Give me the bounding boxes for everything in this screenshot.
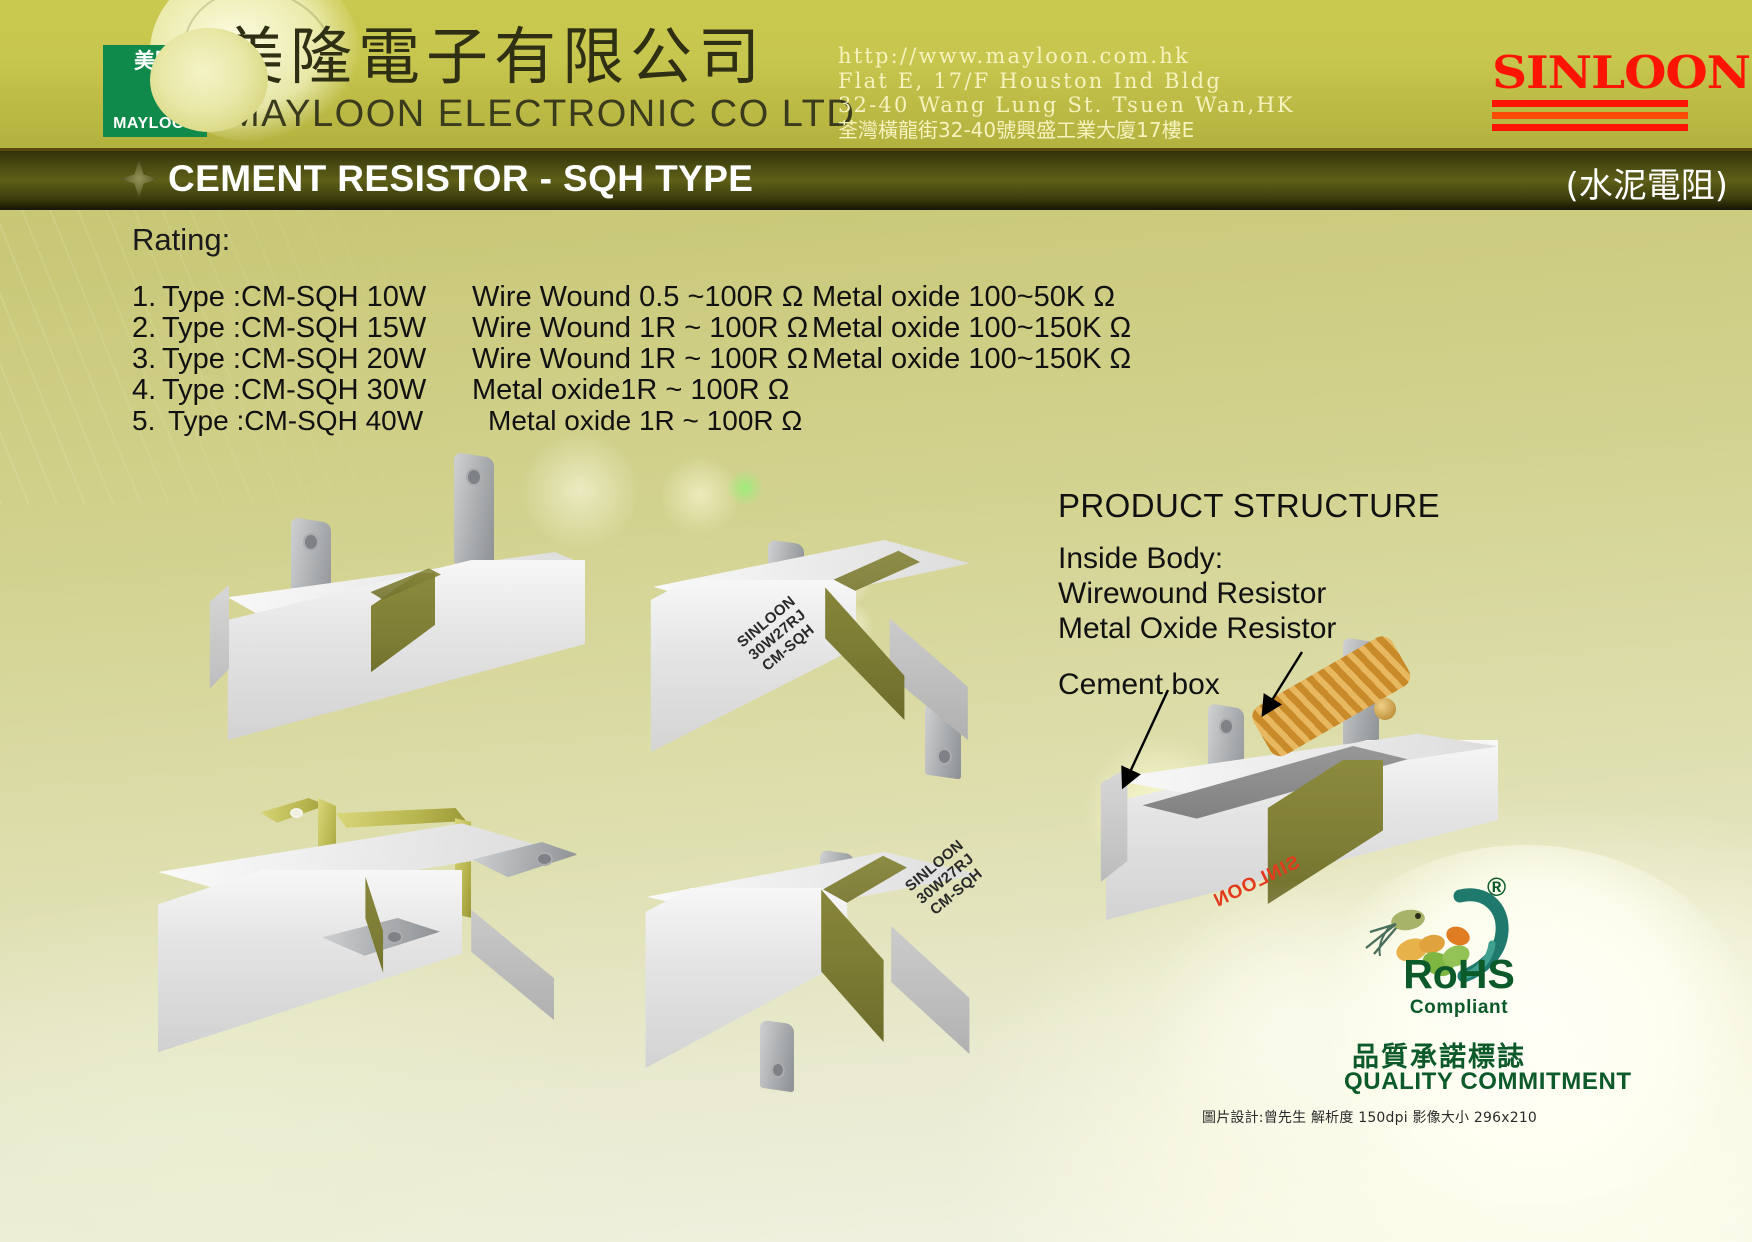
product-photo-bottom-middle: SINLOON 30W27RJ CM-SQH bbox=[640, 830, 1060, 1130]
mayloon-c-mark-icon bbox=[150, 28, 268, 132]
page-header: 美隆 MAYLOON 美隆電子有限公司 MAYLOON ELECTRONIC C… bbox=[0, 0, 1752, 148]
sinloon-brand-logo: SINLOON bbox=[1492, 50, 1692, 130]
resistor-lead-gold bbox=[260, 798, 326, 838]
page-title: CEMENT RESISTOR - SQH TYPE bbox=[168, 158, 753, 200]
arrow-inside-body bbox=[1264, 652, 1302, 713]
registered-trademark-icon: ® bbox=[1487, 872, 1506, 903]
address-line-1: Flat E, 17/F Houston Ind Bldg bbox=[838, 69, 1295, 94]
structure-heading: PRODUCT STRUCTURE bbox=[1058, 487, 1440, 525]
product-photo-top-middle: SINLOON 30W27RJ CM-SQH bbox=[640, 520, 1060, 820]
bokeh-spot-green bbox=[727, 470, 763, 506]
sinloon-wordmark: SINLOON bbox=[1492, 50, 1708, 95]
rohs-label: RoHS bbox=[1364, 952, 1554, 996]
rating-row: 5. Type :CM-SQH 40W Metal oxide 1R ~ 100… bbox=[132, 406, 1131, 436]
lead-hole-icon bbox=[937, 748, 952, 765]
company-website[interactable]: http://www.mayloon.com.hk bbox=[838, 44, 1295, 69]
rating-type: Type :CM-SQH 40W bbox=[168, 406, 488, 436]
lead-hole-icon bbox=[466, 468, 482, 486]
rating-type: Type :CM-SQH 15W bbox=[162, 313, 472, 343]
rating-spec-primary: Metal oxide 1R ~ 100R Ω bbox=[488, 406, 828, 436]
product-photo-bottom-left bbox=[150, 790, 580, 1070]
rating-type: Type :CM-SQH 10W bbox=[162, 282, 472, 312]
product-print-text: SINLOON 30W27RJ CM-SQH bbox=[902, 837, 989, 921]
page-title-cn: (水泥電阻) bbox=[1565, 158, 1728, 207]
rating-index: 1. bbox=[132, 282, 162, 312]
lead-hole-icon bbox=[303, 533, 319, 551]
address-line-cn: 荃灣橫龍街32-40號興盛工業大廈17樓E bbox=[838, 118, 1295, 143]
lead-hole-icon bbox=[536, 852, 553, 866]
rohs-compliance-badge: RoHS Compliant bbox=[1364, 952, 1554, 1019]
callout-arrows bbox=[1040, 600, 1520, 850]
rating-table: 1. Type :CM-SQH 10W Wire Wound 0.5 ~100R… bbox=[132, 282, 1131, 437]
rating-index: 2. bbox=[132, 313, 162, 343]
arrow-cement-box bbox=[1124, 690, 1168, 785]
quality-commitment-en: QUALITY COMMITMENT bbox=[1344, 1068, 1632, 1096]
rating-spec-primary: Wire Wound 1R ~ 100R Ω bbox=[472, 313, 812, 343]
inside-body-label: Inside Body: bbox=[1058, 541, 1336, 576]
rating-spec-secondary: Metal oxide 100~50K Ω bbox=[812, 282, 1115, 312]
rating-spec-primary: Wire Wound 0.5 ~100R Ω bbox=[472, 282, 812, 312]
sinloon-bar-2 bbox=[1492, 112, 1688, 119]
image-credit-line: 圖片設計:曾先生 解析度 150dpi 影像大小 296x210 bbox=[1202, 1107, 1537, 1127]
company-name-cn: 美隆電子有限公司 bbox=[222, 24, 766, 90]
company-name-en: MAYLOON ELECTRONIC CO LTD bbox=[228, 92, 855, 136]
rating-index: 5. bbox=[132, 406, 168, 436]
rating-index: 3. bbox=[132, 344, 162, 374]
rating-heading: Rating: bbox=[132, 222, 230, 258]
rating-type: Type :CM-SQH 20W bbox=[162, 344, 472, 374]
rating-spec-primary: Metal oxide1R ~ 100R Ω bbox=[472, 375, 812, 405]
lead-hole-icon bbox=[386, 930, 403, 944]
rating-row: 3. Type :CM-SQH 20W Wire Wound 1R ~ 100R… bbox=[132, 344, 1131, 374]
rating-row: 4. Type :CM-SQH 30W Metal oxide1R ~ 100R… bbox=[132, 375, 1131, 405]
sinloon-bar-3 bbox=[1492, 124, 1688, 131]
resistor-lead bbox=[760, 1020, 794, 1093]
rating-spec-secondary: Metal oxide 100~150K Ω bbox=[812, 344, 1131, 374]
rating-index: 4. bbox=[132, 375, 162, 405]
address-line-2: 32-40 Wang Lung St. Tsuen Wan,HK bbox=[838, 93, 1295, 118]
rating-row: 2. Type :CM-SQH 15W Wire Wound 1R ~ 100R… bbox=[132, 313, 1131, 343]
lead-hole-icon bbox=[771, 1062, 785, 1078]
rating-row: 1. Type :CM-SQH 10W Wire Wound 0.5 ~100R… bbox=[132, 282, 1131, 312]
rating-type: Type :CM-SQH 30W bbox=[162, 375, 472, 405]
sinloon-bar-1 bbox=[1492, 100, 1688, 107]
lead-hole-icon bbox=[290, 808, 303, 818]
rohs-compliant-label: Compliant bbox=[1364, 997, 1554, 1019]
product-photo-top-left bbox=[205, 455, 605, 765]
contact-block: http://www.mayloon.com.hk Flat E, 17/F H… bbox=[838, 44, 1295, 142]
diamond-bullet-icon bbox=[120, 160, 158, 198]
rating-spec-primary: Wire Wound 1R ~ 100R Ω bbox=[472, 344, 812, 374]
datasheet-page: 美隆 MAYLOON 美隆電子有限公司 MAYLOON ELECTRONIC C… bbox=[0, 0, 1752, 1242]
rating-spec-secondary: Metal oxide 100~150K Ω bbox=[812, 313, 1131, 343]
section-title-bar: CEMENT RESISTOR - SQH TYPE (水泥電阻) bbox=[0, 148, 1752, 210]
